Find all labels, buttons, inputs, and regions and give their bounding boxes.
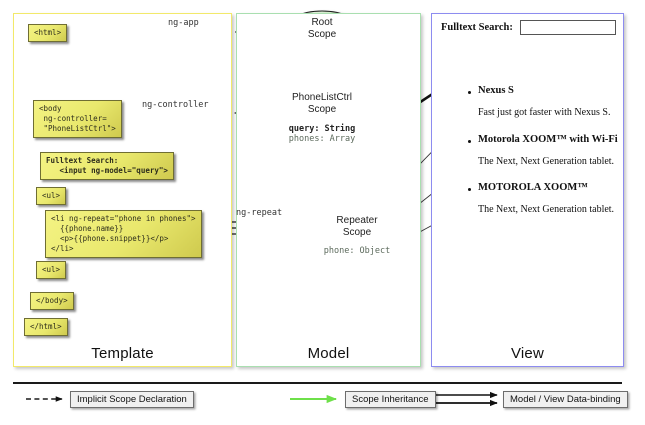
model-panel: Model [236,13,421,367]
legend-implicit-scope-declaration: Implicit Scope Declaration [70,391,194,408]
view-item-bullet [468,140,471,143]
code-box-ul-open-tag: <ul> [36,187,66,205]
fulltext-search-label: Fulltext Search: [441,22,513,33]
view-item-bullet [468,188,471,191]
code-box-body-close-tag: </body> [30,292,74,310]
fulltext-search-input[interactable] [520,20,616,35]
diagram-canvas: Template Model View <html> <body ng-cont… [0,0,645,425]
code-box-body-controller-tag: <body ng-controller= "PhoneListCtrl"> [33,100,122,138]
code-box-li-ng-repeat-markup: <li ng-repeat="phone in phones"> {{phone… [45,210,202,258]
view-item-bullet [468,91,471,94]
code-box-html-open-tag: <html> [28,24,67,42]
view-item-snippet: The Next, Next Generation tablet. [478,204,614,215]
view-item-snippet: Fast just got faster with Nexus S. [478,107,611,118]
code-box-ul-close-tag: <ul> [36,261,66,279]
view-item-snippet: The Next, Next Generation tablet. [478,156,614,167]
view-item-name: Motorola XOOM™ with Wi-Fi [478,134,618,145]
code-box-html-close-tag: </html> [24,318,68,336]
legend-model-view-data-binding: Model / View Data-binding [503,391,628,408]
legend-scope-inheritance: Scope Inheritance [345,391,436,408]
template-panel-label: Template [14,345,231,362]
code-box-fulltext-search-input-markup: Fulltext Search: <input ng-model="query"… [40,152,174,180]
legend-divider [13,382,622,384]
edge-label-ng-app: ng-app [168,18,199,28]
view-item-name: MOTOROLA XOOM™ [478,182,588,193]
view-panel-label: View [432,345,623,362]
model-panel-label: Model [237,345,420,362]
edge-label-ng-repeat: ng-repeat [236,208,282,218]
edge-label-ng-controller: ng-controller [142,100,209,110]
view-item-name: Nexus S [478,85,514,96]
